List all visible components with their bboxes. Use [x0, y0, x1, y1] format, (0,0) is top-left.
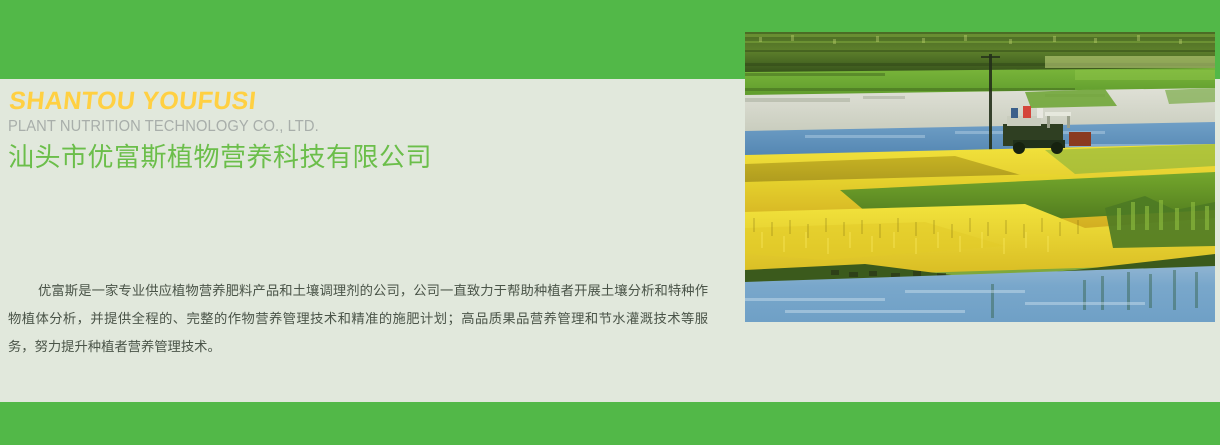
rice-paddy-photo: [745, 32, 1215, 322]
rice-paddy-photo-illustration: [745, 32, 1215, 322]
bottom-green-band: [0, 402, 1220, 445]
page-root: SHANTOU YOUFUSI PLANT NUTRITION TECHNOLO…: [0, 0, 1220, 445]
company-name-english: SHANTOU YOUFUSI: [8, 88, 711, 114]
about-paragraph: 优富斯是一家专业供应植物营养肥料产品和土壤调理剂的公司，公司一直致力于帮助种植者…: [8, 277, 708, 361]
company-name-chinese: 汕头市优富斯植物营养科技有限公司: [8, 142, 708, 173]
company-subtitle-english: PLANT NUTRITION TECHNOLOGY CO., LTD.: [8, 118, 673, 135]
brand-block: SHANTOU YOUFUSI PLANT NUTRITION TECHNOLO…: [8, 88, 708, 173]
